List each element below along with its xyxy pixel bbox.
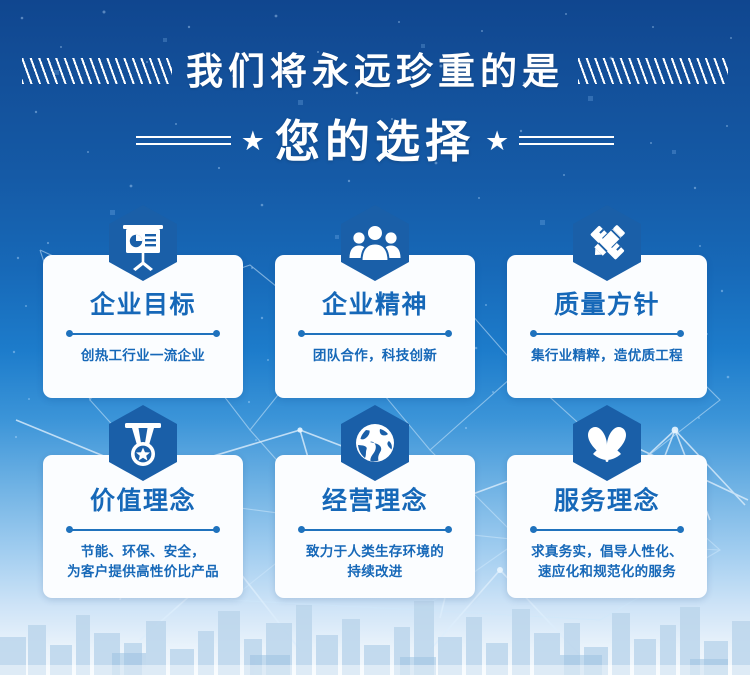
double-rule-left <box>136 136 231 147</box>
card-description: 节能、环保、安全， 为客户提供高性价比产品 <box>67 542 219 581</box>
star-icon: ★ <box>485 128 509 155</box>
card-divider <box>298 330 452 337</box>
diagonal-hatch-icon <box>22 58 172 84</box>
star-icon: ★ <box>241 128 265 155</box>
header: 我们将永远珍重的是 ★ 您的选择 ★ <box>0 0 750 190</box>
subline-row: ★ 您的选择 ★ <box>0 110 750 172</box>
divider-dot-left <box>530 526 537 533</box>
feature-card[interactable]: 价值理念 节能、环保、安全， 为客户提供高性价比产品 <box>43 455 243 598</box>
card-title: 经营理念 <box>322 489 428 514</box>
card-divider <box>530 526 684 533</box>
divider-dot-left <box>66 526 73 533</box>
heart-flower-icon <box>571 405 643 485</box>
divider-dot-right <box>677 526 684 533</box>
feature-card[interactable]: 经营理念 致力于人类生存环境的 持续改进 <box>275 455 475 598</box>
card-title: 价值理念 <box>90 489 196 514</box>
card-title: 企业目标 <box>90 293 196 318</box>
divider-dot-right <box>677 330 684 337</box>
divider-dot-left <box>66 330 73 337</box>
presentation-board-icon <box>107 205 179 285</box>
card-divider <box>66 526 220 533</box>
poster-root: 我们将永远珍重的是 ★ 您的选择 ★ <box>0 0 750 675</box>
feature-card[interactable]: 质量方针 集行业精粹，造优质工程 <box>507 255 707 398</box>
team-people-icon <box>339 205 411 285</box>
globe-icon <box>339 405 411 485</box>
diagonal-hatch-icon <box>578 58 728 84</box>
card-description: 求真务实，倡导人性化、 速应化和规范化的服务 <box>531 542 683 581</box>
divider-dot-left <box>298 330 305 337</box>
medal-icon <box>107 405 179 485</box>
feature-card-grid: 企业目标 创热工行业一流企业 企业精神 团队合作， <box>43 255 707 598</box>
card-divider <box>530 330 684 337</box>
headline-row: 我们将永远珍重的是 <box>0 45 750 97</box>
card-title: 质量方针 <box>554 293 660 318</box>
card-title: 服务理念 <box>554 489 660 514</box>
card-description: 致力于人类生存环境的 持续改进 <box>306 542 444 581</box>
page-title: 我们将永远珍重的是 <box>186 53 564 90</box>
feature-card[interactable]: 企业目标 创热工行业一流企业 <box>43 255 243 398</box>
divider-dot-right <box>445 330 452 337</box>
card-divider <box>66 330 220 337</box>
feature-card[interactable]: 服务理念 求真务实，倡导人性化、 速应化和规范化的服务 <box>507 455 707 598</box>
divider-dot-left <box>530 330 537 337</box>
page-subtitle: 您的选择 <box>275 119 475 164</box>
double-rule-right <box>519 136 614 147</box>
card-title: 企业精神 <box>322 293 428 318</box>
pencil-ruler-icon <box>571 205 643 285</box>
divider-dot-right <box>213 526 220 533</box>
feature-card[interactable]: 企业精神 团队合作，科技创新 <box>275 255 475 398</box>
card-description: 创热工行业一流企业 <box>81 346 205 366</box>
card-description: 集行业精粹，造优质工程 <box>531 346 683 366</box>
divider-dot-right <box>445 526 452 533</box>
card-description: 团队合作，科技创新 <box>313 346 437 366</box>
divider-dot-left <box>298 526 305 533</box>
card-divider <box>298 526 452 533</box>
divider-dot-right <box>213 330 220 337</box>
